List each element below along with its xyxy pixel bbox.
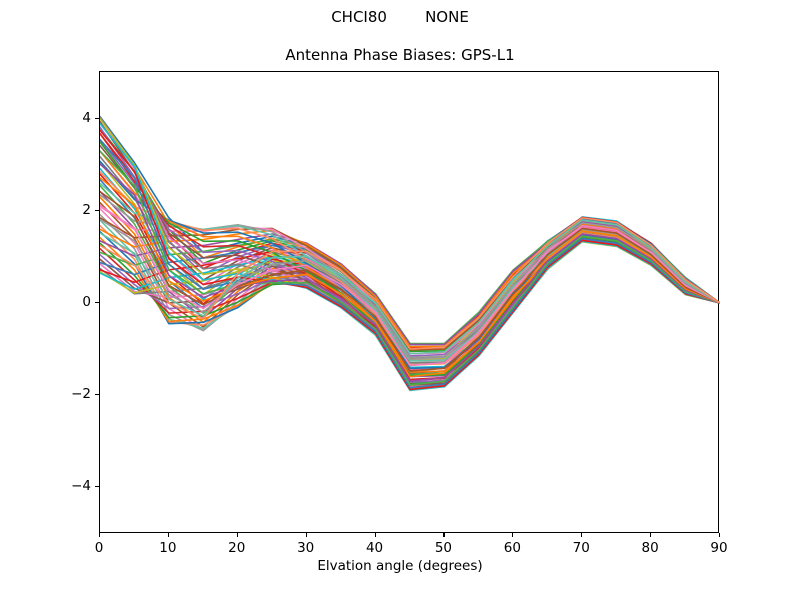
x-tick-mark	[719, 533, 720, 537]
y-tick-label: 2	[47, 202, 91, 218]
y-tick-label: −4	[47, 478, 91, 494]
x-tick-label: 0	[69, 540, 129, 556]
y-tick-label: −2	[47, 386, 91, 402]
x-tick-label: 60	[482, 540, 542, 556]
x-tick-label: 80	[620, 540, 680, 556]
y-tick-mark	[95, 486, 99, 487]
figure: CHCI80 NONE Antenna Phase Biases: GPS-L1…	[0, 0, 800, 600]
x-tick-label: 70	[551, 540, 611, 556]
y-tick-mark	[95, 302, 99, 303]
x-tick-mark	[650, 533, 651, 537]
y-tick-label: 0	[47, 294, 91, 310]
x-tick-label: 40	[345, 540, 405, 556]
y-tick-mark	[95, 118, 99, 119]
x-tick-mark	[375, 533, 376, 537]
x-tick-mark	[443, 533, 444, 537]
x-axis-label: Elvation angle (degrees)	[0, 558, 800, 574]
y-tick-mark	[95, 394, 99, 395]
x-tick-mark	[306, 533, 307, 537]
x-tick-mark	[237, 533, 238, 537]
x-tick-label: 50	[413, 540, 473, 556]
x-tick-label: 90	[689, 540, 749, 556]
x-tick-mark	[581, 533, 582, 537]
x-tick-mark	[99, 533, 100, 537]
x-tick-label: 10	[138, 540, 198, 556]
x-tick-mark	[168, 533, 169, 537]
x-tick-label: 30	[276, 540, 336, 556]
x-tick-mark	[512, 533, 513, 537]
axis-ticks-layer: −4−20240102030405060708090	[0, 0, 800, 600]
y-tick-mark	[95, 210, 99, 211]
x-tick-label: 20	[207, 540, 267, 556]
y-tick-label: 4	[47, 110, 91, 126]
